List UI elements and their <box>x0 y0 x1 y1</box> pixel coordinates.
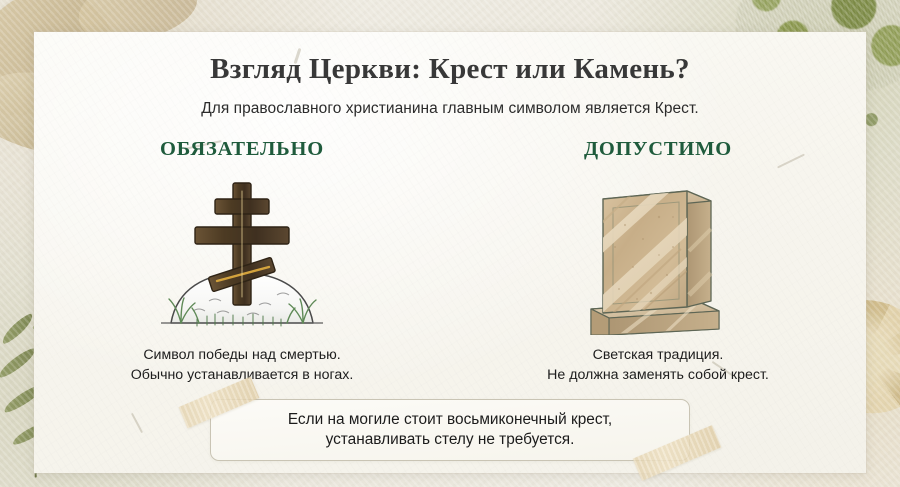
footer-note-box: Если на могиле стоит восьмиконечный крес… <box>210 399 690 461</box>
column-heading-permissible: ДОПУСТИМО <box>450 138 866 161</box>
headstone-illustration <box>450 177 866 335</box>
footer-line-2: устанавливать стелу не требуется. <box>288 430 612 451</box>
column-permissible: ДОПУСТИМО <box>450 138 866 385</box>
caption-line-1: Светская традиция. <box>450 345 866 365</box>
footer-line-1: Если на могиле стоит восьмиконечный крес… <box>288 410 612 431</box>
caption-line-1: Символ победы над смертью. <box>34 345 450 365</box>
caption-line-2: Не должна заменять собой крест. <box>450 365 866 385</box>
cross-illustration <box>34 177 450 335</box>
caption-permissible: Светская традиция. Не должна заменять со… <box>450 345 866 385</box>
page-subtitle: Для православного христианина главным си… <box>34 100 866 118</box>
column-heading-obligatory: ОБЯЗАТЕЛЬНО <box>34 138 450 161</box>
footer-note-area: Если на могиле стоит восьмиконечный крес… <box>34 399 866 477</box>
info-card: Взгляд Церкви: Крест или Камень? Для пра… <box>34 32 866 473</box>
granite-stele-icon <box>563 177 753 335</box>
orthodox-cross-icon <box>147 177 337 335</box>
page-title: Взгляд Церкви: Крест или Камень? <box>34 53 866 86</box>
comparison-columns: ОБЯЗАТЕЛЬНО <box>34 138 866 385</box>
column-obligatory: ОБЯЗАТЕЛЬНО <box>34 138 450 385</box>
footer-note-text: Если на могиле стоит восьмиконечный крес… <box>278 410 622 452</box>
